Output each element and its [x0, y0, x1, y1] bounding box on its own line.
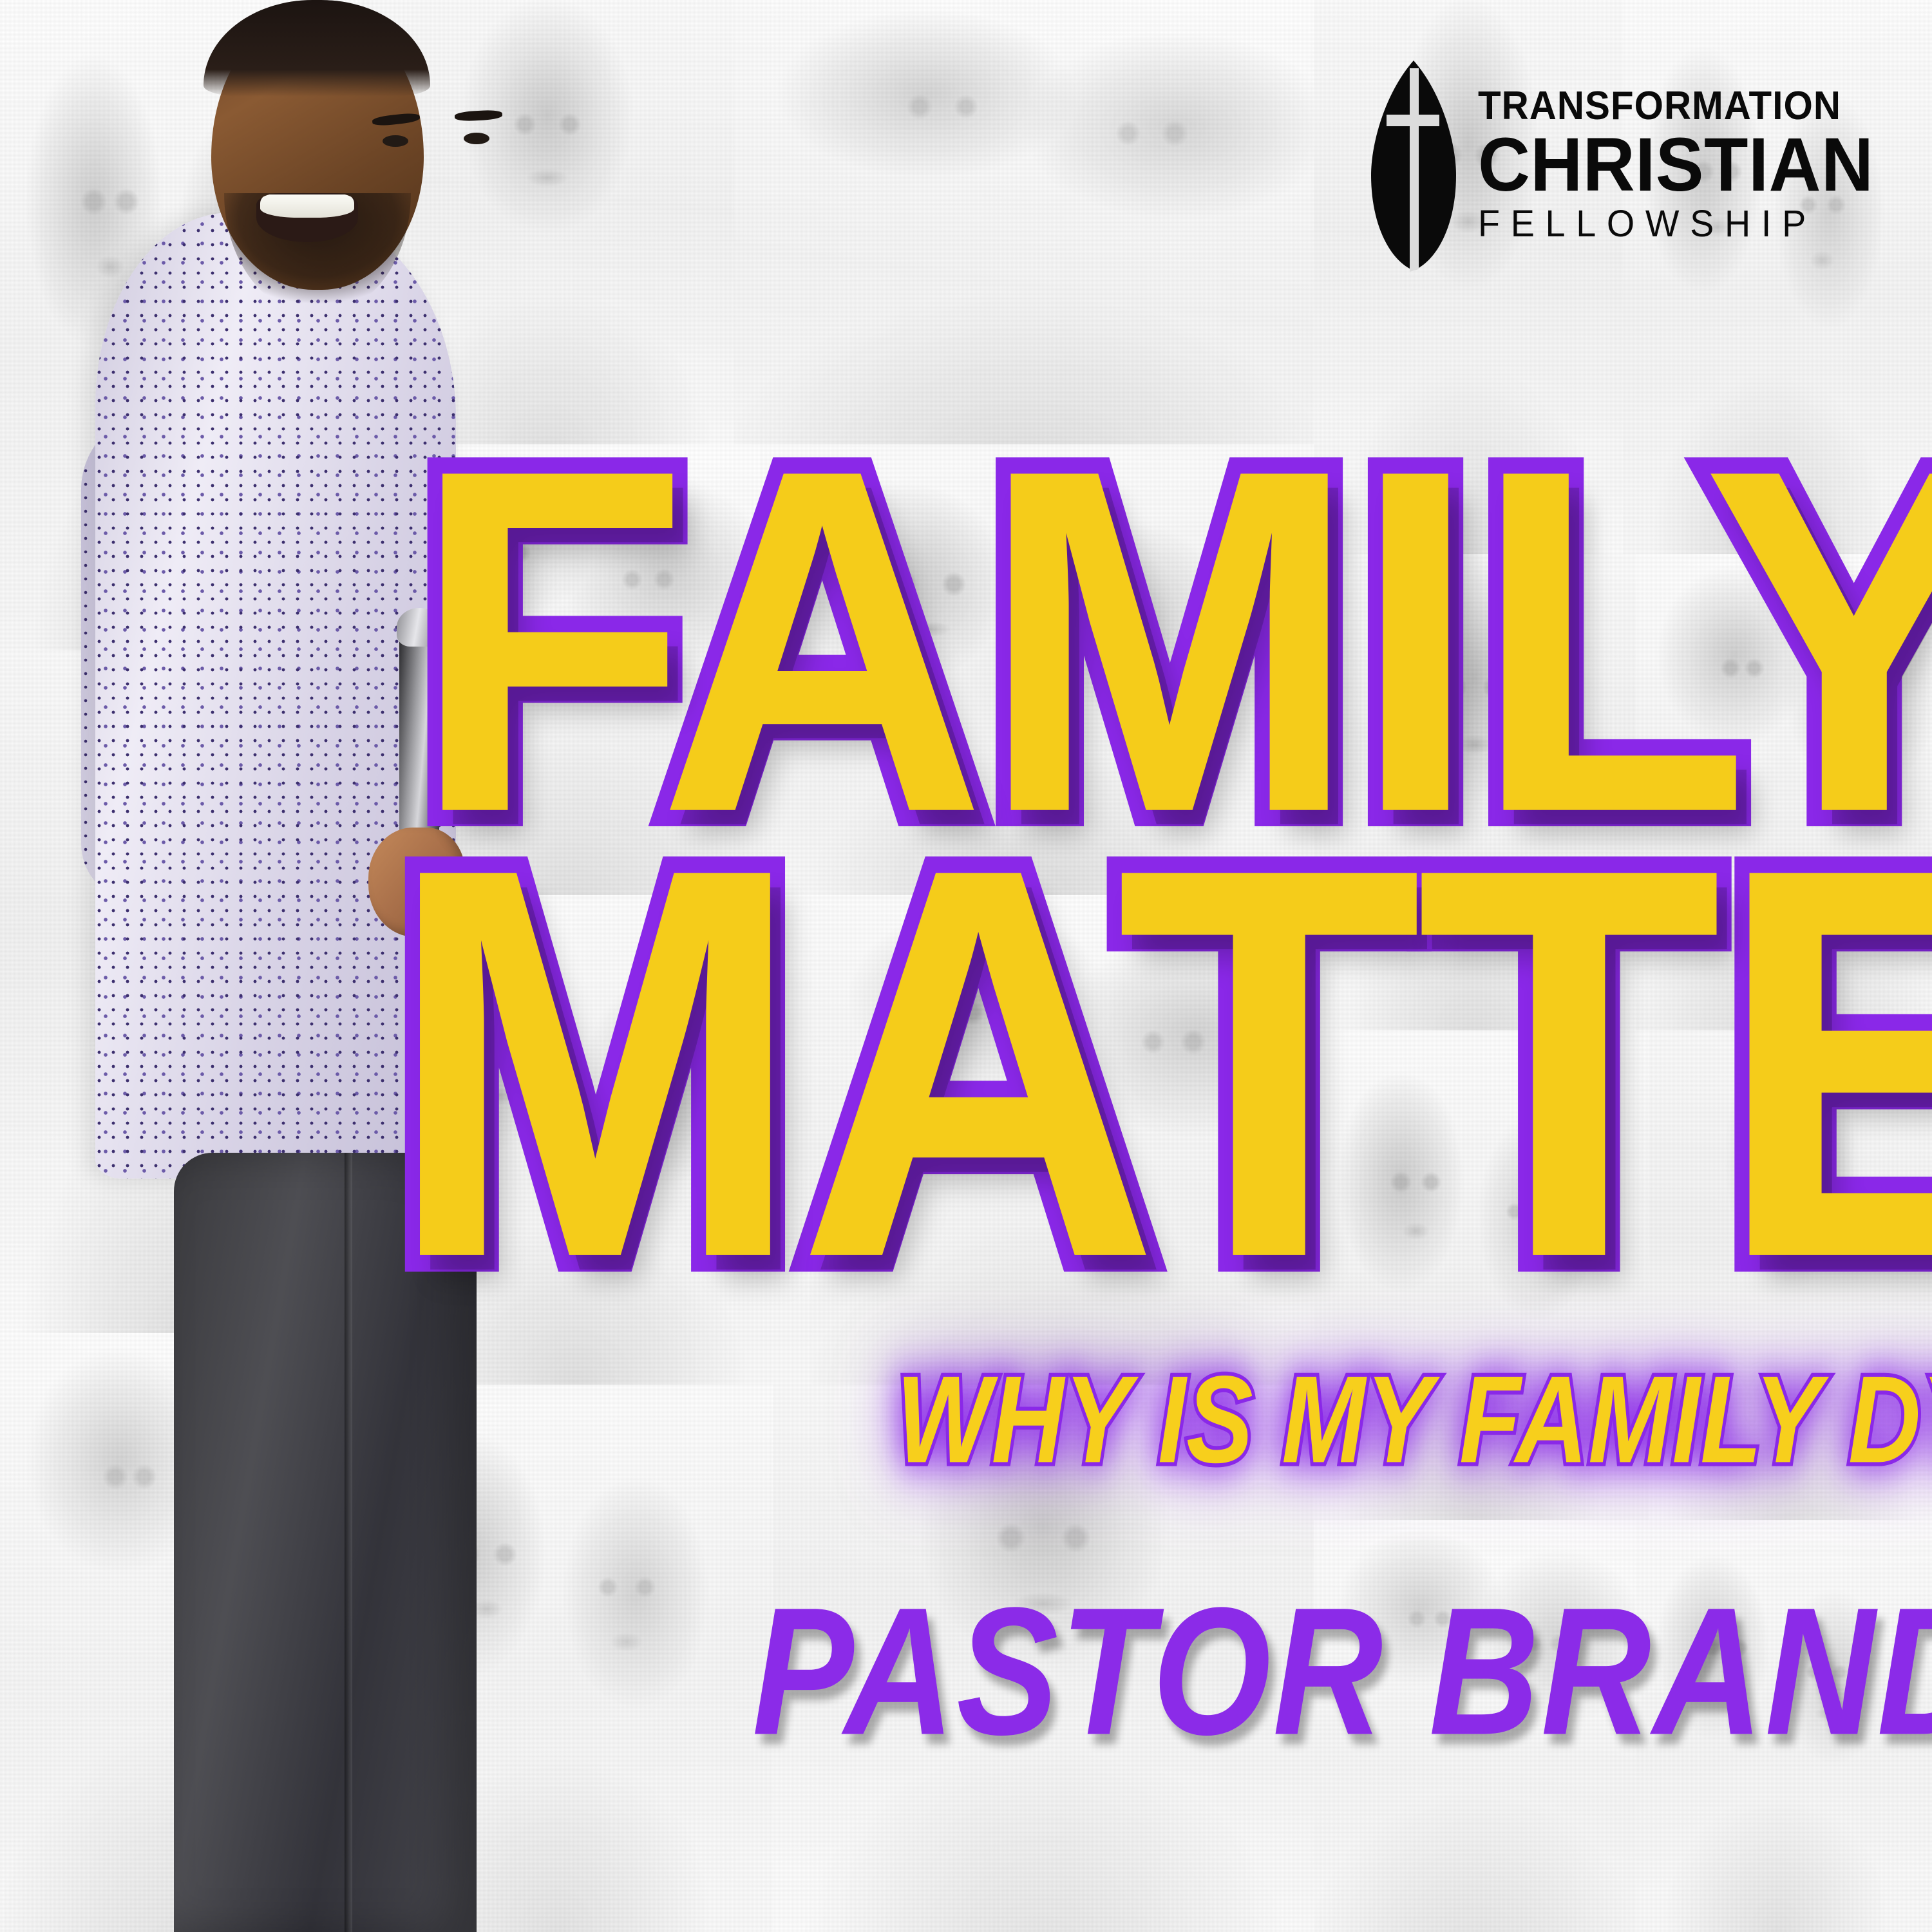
collage-tile: [1314, 554, 1636, 1030]
collage-tile: [1636, 1520, 1932, 1932]
collage-tile: [734, 0, 1314, 444]
preacher-teeth: [260, 194, 354, 218]
collage-tile: [1314, 1030, 1649, 1520]
church-logo-line-2: CHRISTIAN: [1478, 126, 1873, 204]
church-logo-line-3: FELLOWSHIP: [1478, 204, 1878, 245]
preacher-eye-right: [464, 133, 489, 144]
preacher-brow-left: [372, 112, 420, 127]
preacher-trousers: [174, 1153, 477, 1932]
collage-tile: [811, 895, 1314, 1385]
collage-tile: [1649, 1030, 1932, 1520]
collage-tile: [773, 1385, 1314, 1932]
preacher-brow-right: [455, 109, 503, 122]
preacher-mouth: [256, 193, 358, 242]
collage-tile: [1636, 554, 1932, 1030]
preacher-hand: [368, 828, 465, 937]
church-logo-line-1: TRANSFORMATION: [1478, 86, 1870, 126]
church-logo: TRANSFORMATION CHRISTIAN FELLOWSHIP: [1371, 59, 1895, 272]
collage-tile: [760, 444, 1314, 895]
preacher-with-microphone-icon: [77, 0, 580, 1932]
preacher-eye-left: [383, 135, 408, 147]
collage-tile: [1314, 1520, 1636, 1932]
cross-in-vesica-icon: [1371, 59, 1456, 272]
preacher-hair: [204, 0, 430, 97]
church-logo-text: TRANSFORMATION CHRISTIAN FELLOWSHIP: [1478, 86, 1895, 246]
sermon-graphic-canvas: FAMILY MATTERS WHY IS MY FAMILY DYSFUNCT…: [0, 0, 1932, 1932]
